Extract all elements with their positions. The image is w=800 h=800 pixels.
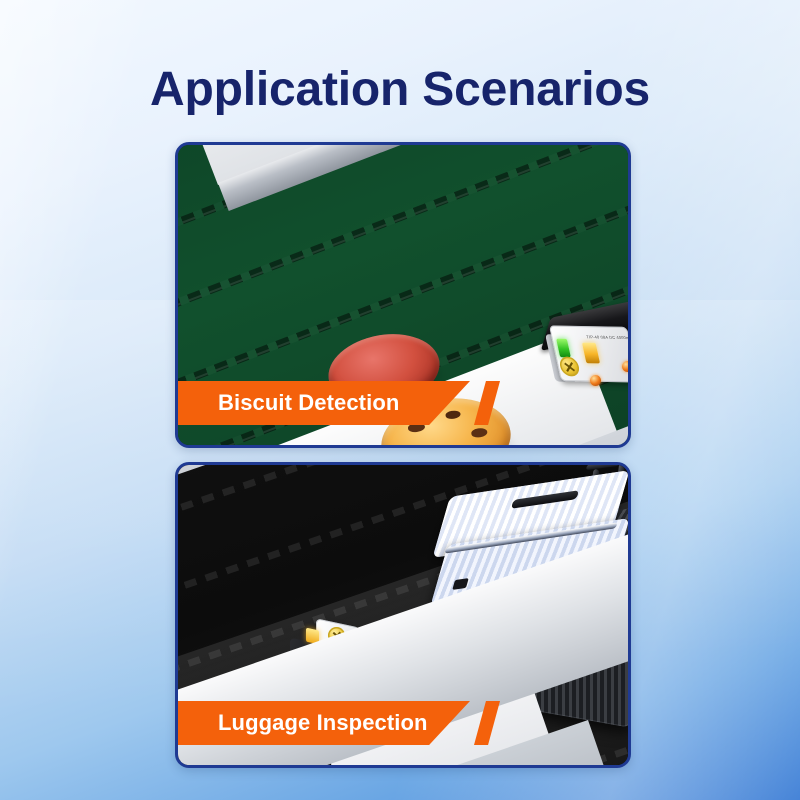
caption-label: Luggage Inspection — [218, 710, 428, 736]
background-sheen-left — [0, 0, 187, 800]
sensor-label-line-1: TIP-40 08A DC 4000mA — [586, 334, 628, 360]
page-title: Application Scenarios — [0, 62, 800, 117]
application-scenarios-poster: Application Scenarios — [0, 0, 800, 800]
caption-banner-biscuit: Biscuit Detection — [178, 381, 470, 425]
sensor-mount-screw — [622, 361, 628, 372]
caption-banner-luggage: Luggage Inspection — [178, 701, 470, 745]
photoelectric-sensor[interactable]: TIP-40 08A DC 4000mA CE — [546, 305, 628, 397]
caption-label: Biscuit Detection — [218, 390, 399, 416]
sensor-mount-screw — [590, 375, 601, 386]
panel-luggage-inspection[interactable]: TIP-40 08A DC CE Luggage Inspection — [175, 462, 631, 768]
panel-biscuit-detection[interactable]: TIP-40 08A DC 4000mA CE Biscuit Detectio… — [175, 142, 631, 448]
